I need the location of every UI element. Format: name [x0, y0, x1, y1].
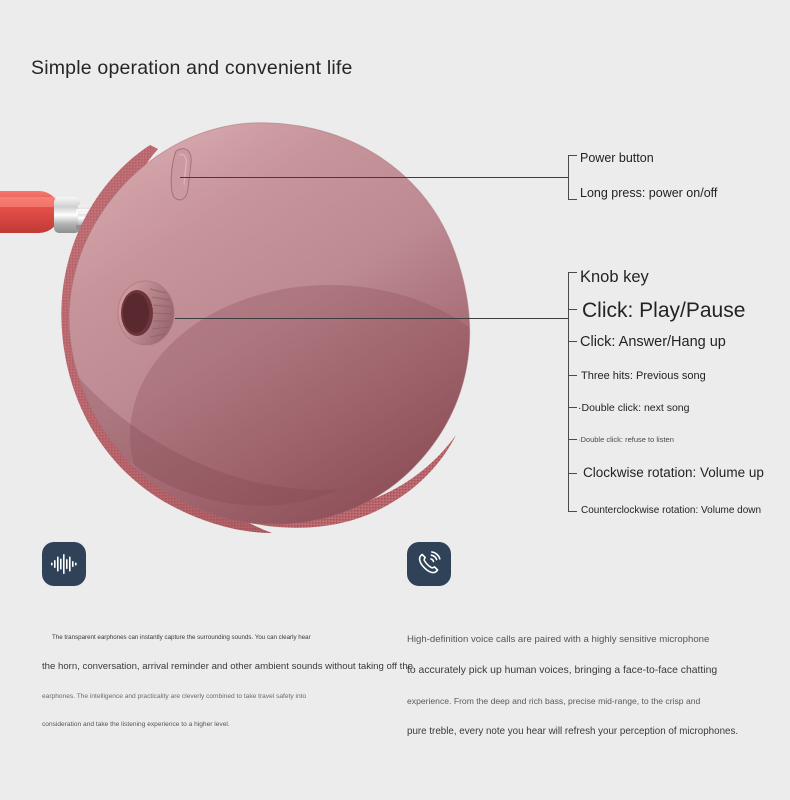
- bracket-spine-power: [568, 155, 569, 199]
- callout-label-double-click-refuse: ·Double click: refuse to listen: [578, 436, 674, 444]
- feature-left-line-3: consideration and take the listening exp…: [42, 721, 382, 728]
- bracket-spine-knob: [568, 272, 569, 511]
- product-image-headphone: [0, 105, 570, 535]
- callout-label-counterclockwise-volume-down: Counterclockwise rotation: Volume down: [581, 506, 761, 516]
- feature-right-text: High-definition voice calls are paired w…: [407, 634, 767, 737]
- bracket-stub-knob-7: [568, 511, 577, 512]
- feature-right-line-2: experience. From the deep and rich bass,…: [407, 696, 767, 706]
- callout-label-power-button: Power button: [580, 152, 654, 165]
- callout-label-knob-key: Knob key: [580, 269, 649, 286]
- bracket-stub-power-0: [568, 155, 577, 156]
- knob-key: [118, 281, 174, 345]
- bracket-stub-knob-6: [568, 473, 577, 474]
- callout-label-long-press: Long press: power on/off: [580, 187, 717, 200]
- callout-label-three-hits-previous: Three hits: Previous song: [581, 371, 706, 382]
- feature-left-line-2: earphones. The intelligence and practica…: [42, 693, 382, 700]
- feature-left-text: The transparent earphones can instantly …: [42, 634, 382, 728]
- feature-block-ambient-sound: The transparent earphones can instantly …: [42, 542, 382, 728]
- feature-block-voice-call: High-definition voice calls are paired w…: [407, 542, 767, 737]
- callout-label-clockwise-volume-up: Clockwise rotation: Volume up: [583, 466, 764, 480]
- bracket-stub-knob-4: [568, 407, 577, 408]
- bracket-stub-knob-0: [568, 272, 577, 273]
- bracket-stub-knob-1: [568, 309, 577, 310]
- feature-left-line-0: The transparent earphones can instantly …: [52, 634, 382, 641]
- callout-label-click-answer-hangup: Click: Answer/Hang up: [580, 335, 726, 350]
- callout-label-click-play-pause: Click: Play/Pause: [582, 300, 745, 321]
- feature-right-line-3: pure treble, every note you hear will re…: [407, 726, 767, 737]
- feature-right-line-1: to accurately pick up human voices, brin…: [407, 665, 767, 676]
- headband-arm: [0, 191, 60, 233]
- feature-left-line-1: the horn, conversation, arrival reminder…: [42, 661, 382, 672]
- earcup: [20, 105, 530, 535]
- leader-line-power: [180, 177, 568, 178]
- callout-label-double-click-next: ·Double click: next song: [578, 403, 689, 414]
- feature-right-line-0: High-definition voice calls are paired w…: [407, 634, 767, 645]
- phone-call-icon: [407, 542, 451, 586]
- leader-line-knob: [175, 318, 568, 319]
- page-title: Simple operation and convenient life: [31, 57, 353, 80]
- bracket-stub-knob-5: [568, 439, 577, 440]
- audio-waveform-icon: [42, 542, 86, 586]
- bracket-stub-knob-2: [568, 341, 577, 342]
- bracket-stub-knob-3: [568, 375, 577, 376]
- bracket-stub-power-1: [568, 199, 577, 200]
